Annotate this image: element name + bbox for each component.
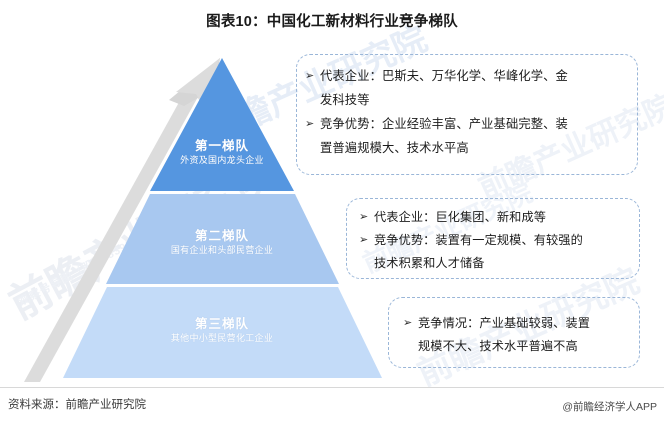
bullet-row: ➢ 竞争优势：企业经验丰富、产业基础完整、装 xyxy=(305,113,627,136)
brand-watermark: @前瞻经济学人APP xyxy=(562,399,657,414)
arrow-bullet-icon: ➢ xyxy=(305,65,320,88)
bullet-text: 竞争情况：产业基础较弱、装置 xyxy=(418,312,629,334)
bullet-text: 发科技等 xyxy=(320,89,627,112)
pyramid-tier-1 xyxy=(150,58,294,191)
arrow-bullet-icon: ➢ xyxy=(359,229,374,251)
bullet-row: 置普遍规模大、技术水平高 xyxy=(305,137,627,160)
callout-tier-3: ➢ 竞争情况：产业基础较弱、装置 规模不大、技术水平普遍不高 xyxy=(388,297,640,368)
bullet-text: 规模不大、技术水平普遍不高 xyxy=(418,335,629,357)
arrow-bullet-icon: ➢ xyxy=(359,206,374,228)
source-text: 资料来源：前瞻产业研究院 xyxy=(8,396,146,412)
callout-tier-2: ➢ 代表企业：巨化集团、新和成等 ➢ 竞争优势：装置有一定规模、有较强的 技术积… xyxy=(346,198,640,279)
arrow-bullet-icon: ➢ xyxy=(403,312,418,334)
bullet-row: 发科技等 xyxy=(305,89,627,112)
bullet-row: 规模不大、技术水平普遍不高 xyxy=(403,335,629,357)
bullet-row: ➢ 竞争情况：产业基础较弱、装置 xyxy=(403,312,629,334)
bullet-text: 代表企业：巨化集团、新和成等 xyxy=(374,206,629,228)
bullet-row: ➢ 代表企业：巨化集团、新和成等 xyxy=(359,206,629,228)
bullet-text: 代表企业：巴斯夫、万华化学、华峰化学、金 xyxy=(320,65,627,88)
bullet-text: 置普遍规模大、技术水平高 xyxy=(320,137,627,160)
chart-canvas: 前瞻产业研究院 观察号导图（股票.839599） 前瞻产业研究院 前瞻产业研究院… xyxy=(0,0,664,425)
callout-tier-1: ➢ 代表企业：巴斯夫、万华化学、华峰化学、金 发科技等 ➢ 竞争优势：企业经验丰… xyxy=(296,54,638,175)
pyramid-tier-2 xyxy=(106,194,339,284)
bullet-text: 竞争优势：企业经验丰富、产业基础完整、装 xyxy=(320,113,627,136)
footer-divider xyxy=(0,387,664,388)
arrow-bullet-icon: ➢ xyxy=(305,113,320,136)
bullet-row: ➢ 竞争优势：装置有一定规模、有较强的 xyxy=(359,229,629,251)
bullet-text: 竞争优势：装置有一定规模、有较强的 xyxy=(374,229,629,251)
bullet-text: 技术积累和人才储备 xyxy=(374,252,629,274)
pyramid-tier-3 xyxy=(63,287,382,378)
bullet-row: ➢ 代表企业：巴斯夫、万华化学、华峰化学、金 xyxy=(305,65,627,88)
page-title: 图表10：中国化工新材料行业竞争梯队 xyxy=(0,10,664,31)
bullet-row: 技术积累和人才储备 xyxy=(359,252,629,274)
